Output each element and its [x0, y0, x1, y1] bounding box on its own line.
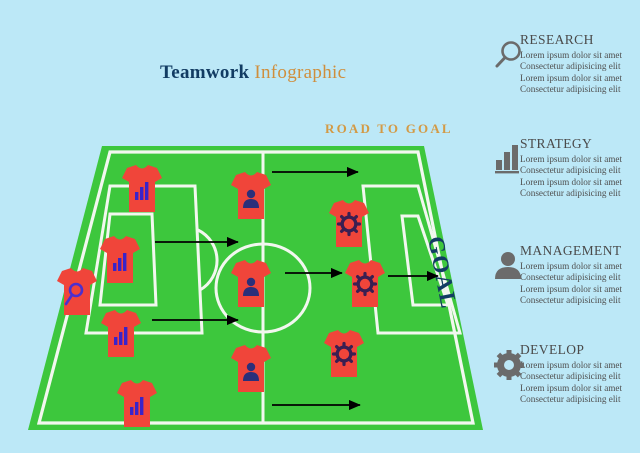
section-line: Lorem ipsum dolor sit amet [520, 360, 640, 371]
gear-icon [492, 348, 526, 382]
section-line: Consectetur adipisicing elit [520, 394, 640, 405]
gear-icon [355, 274, 376, 295]
section-line: Lorem ipsum dolor sit amet [520, 284, 640, 295]
section-line: Lorem ipsum dolor sit amet [520, 177, 640, 188]
section-line: Consectetur adipisicing elit [520, 272, 640, 283]
section-research[interactable]: RESEARCH Lorem ipsum dolor sit amet Cons… [492, 32, 640, 96]
section-heading: RESEARCH [520, 32, 640, 48]
bar-chart-icon [492, 142, 526, 176]
section-heading: STRATEGY [520, 136, 640, 152]
section-line: Lorem ipsum dolor sit amet [520, 261, 640, 272]
section-line: Consectetur adipisicing elit [520, 371, 640, 382]
section-line: Consectetur adipisicing elit [520, 84, 640, 95]
page-title: Teamwork Infographic [160, 62, 346, 84]
soccer-field: GOAL [20, 138, 490, 438]
section-line: Consectetur adipisicing elit [520, 295, 640, 306]
section-heading: DEVELOP [520, 342, 640, 358]
infographic-page: Teamwork Infographic ROAD TO GOAL [0, 0, 640, 453]
person-icon [492, 249, 526, 283]
gear-icon [339, 214, 360, 235]
title-sub-word: Infographic [254, 62, 346, 83]
section-line: Lorem ipsum dolor sit amet [520, 154, 640, 165]
section-heading: MANAGEMENT [520, 243, 640, 259]
section-line: Lorem ipsum dolor sit amet [520, 73, 640, 84]
section-develop[interactable]: DEVELOP Lorem ipsum dolor sit amet Conse… [492, 342, 640, 406]
road-to-goal-label: ROAD TO GOAL [325, 121, 453, 137]
section-management[interactable]: MANAGEMENT Lorem ipsum dolor sit amet Co… [492, 243, 640, 307]
section-line: Lorem ipsum dolor sit amet [520, 383, 640, 394]
magnifier-icon [492, 38, 526, 72]
section-line: Lorem ipsum dolor sit amet [520, 50, 640, 61]
section-line: Consectetur adipisicing elit [520, 61, 640, 72]
section-line: Consectetur adipisicing elit [520, 165, 640, 176]
title-main-word: Teamwork [160, 62, 249, 83]
section-line: Consectetur adipisicing elit [520, 188, 640, 199]
gear-icon [334, 344, 355, 365]
section-strategy[interactable]: STRATEGY Lorem ipsum dolor sit amet Cons… [492, 136, 640, 200]
